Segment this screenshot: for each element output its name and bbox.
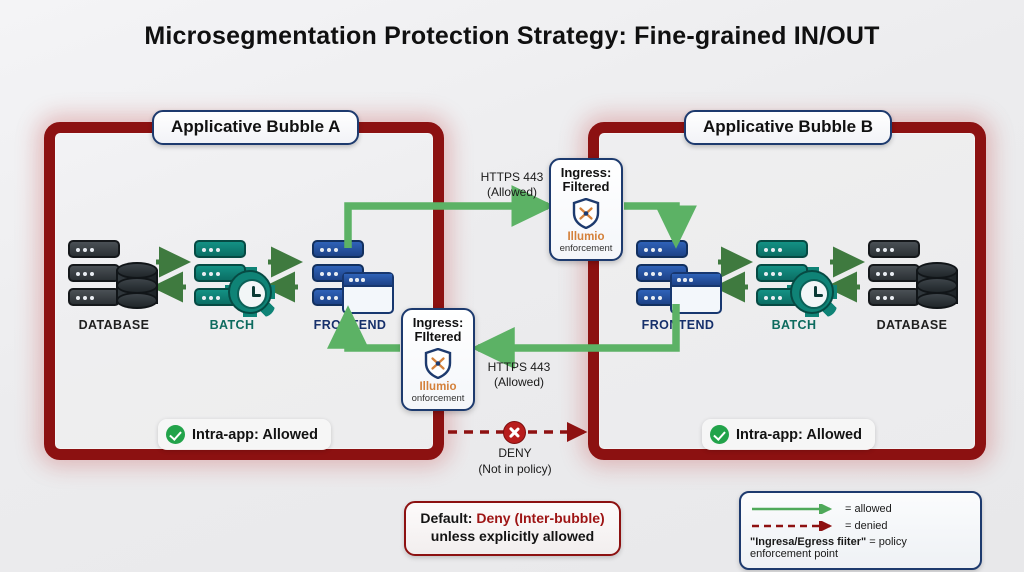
legend-denied-label: = denied (845, 520, 888, 532)
default-policy-prefix: Default: (420, 510, 476, 526)
denied-arrow-icon (750, 521, 838, 531)
node-batch-a: BATCH (186, 236, 278, 332)
enforcement-label: enforcement (554, 244, 618, 254)
flow-label-bottom: HTTPS 443 (Allowed) (474, 360, 564, 390)
legend-allowed-label: = allowed (845, 503, 892, 515)
check-circle-icon (710, 425, 729, 444)
default-policy-line1: Default: Deny (Inter-bubble) (416, 510, 609, 528)
batch-icon-b (748, 236, 840, 314)
database-icon-a (68, 236, 160, 314)
database-icon-b (866, 236, 958, 314)
ingress-filter-box-a[interactable]: Ingress: FIltered Illumio onforcement (401, 308, 475, 411)
bubble-a-label: Applicative Bubble A (152, 110, 359, 145)
page-title: Microsegmentation Protection Strategy: F… (0, 22, 1024, 51)
legend-row-note: "Ingresa/Egress fiiter" = policy enforce… (750, 536, 971, 560)
intra-app-label: Intra-app: Allowed (192, 427, 318, 443)
enforcement-label: onforcement (406, 394, 470, 404)
filter-title-line2: Filtered (554, 180, 618, 194)
legend-box: = allowed = denied "Ingresa/Egress fiite… (739, 491, 982, 570)
node-label: FRONTEND (304, 318, 396, 332)
illumio-brand-label: Illumio (406, 381, 470, 394)
node-label: DATABASE (68, 318, 160, 332)
deny-label: DENY (Not in policy) (455, 446, 575, 477)
shield-icon (424, 348, 452, 379)
batch-icon-a (186, 236, 278, 314)
legend-note: "Ingresa/Egress fiiter" = policy enforce… (750, 536, 971, 560)
deny-title: DENY (455, 446, 575, 462)
node-label: FRONTEND (632, 318, 724, 332)
bubble-b-label: Applicative Bubble B (684, 110, 892, 145)
default-policy-line2: unless explicitly allowed (416, 528, 609, 546)
shield-icon (572, 198, 600, 229)
frontend-icon-a (304, 236, 396, 314)
node-label: DATABASE (866, 318, 958, 332)
deny-x-icon (503, 421, 526, 444)
node-database-a: DATABASE (68, 236, 160, 332)
filter-title-line2: FIltered (406, 330, 470, 344)
intra-app-badge-b: Intra-app: Allowed (702, 419, 875, 450)
legend-note-quoted: "Ingresa/Egress fiiter" (750, 536, 866, 548)
node-frontend-b: FRONTEND (632, 236, 724, 332)
legend-row-allowed: = allowed (750, 500, 971, 517)
allowed-arrow-icon (750, 504, 838, 514)
flow-protocol: HTTPS 443 (468, 170, 556, 185)
node-label: BATCH (748, 318, 840, 332)
intra-app-label: Intra-app: Allowed (736, 427, 862, 443)
filter-title-line1: Ingress: (406, 316, 470, 330)
filter-title-line1: Ingress: (554, 166, 618, 180)
node-label: BATCH (186, 318, 278, 332)
deny-subtitle: (Not in policy) (455, 462, 575, 478)
frontend-icon-b (632, 236, 724, 314)
node-database-b: DATABASE (866, 236, 958, 332)
default-policy-emphasis: Deny (Inter-bubble) (476, 510, 604, 526)
diagram-canvas: Microsegmentation Protection Strategy: F… (0, 0, 1024, 572)
flow-protocol: HTTPS 443 (474, 360, 564, 375)
default-policy-box: Default: Deny (Inter-bubble) unless expl… (404, 501, 621, 556)
flow-label-top: HTTPS 443 (Allowed) (468, 170, 556, 200)
node-batch-b: BATCH (748, 236, 840, 332)
check-circle-icon (166, 425, 185, 444)
legend-row-denied: = denied (750, 517, 971, 534)
flow-status: (Allowed) (474, 375, 564, 390)
illumio-brand-label: Illumio (554, 231, 618, 244)
intra-app-badge-a: Intra-app: Allowed (158, 419, 331, 450)
flow-status: (Allowed) (468, 185, 556, 200)
ingress-filter-box-b[interactable]: Ingress: Filtered Illumio enforcement (549, 158, 623, 261)
node-frontend-a: FRONTEND (304, 236, 396, 332)
